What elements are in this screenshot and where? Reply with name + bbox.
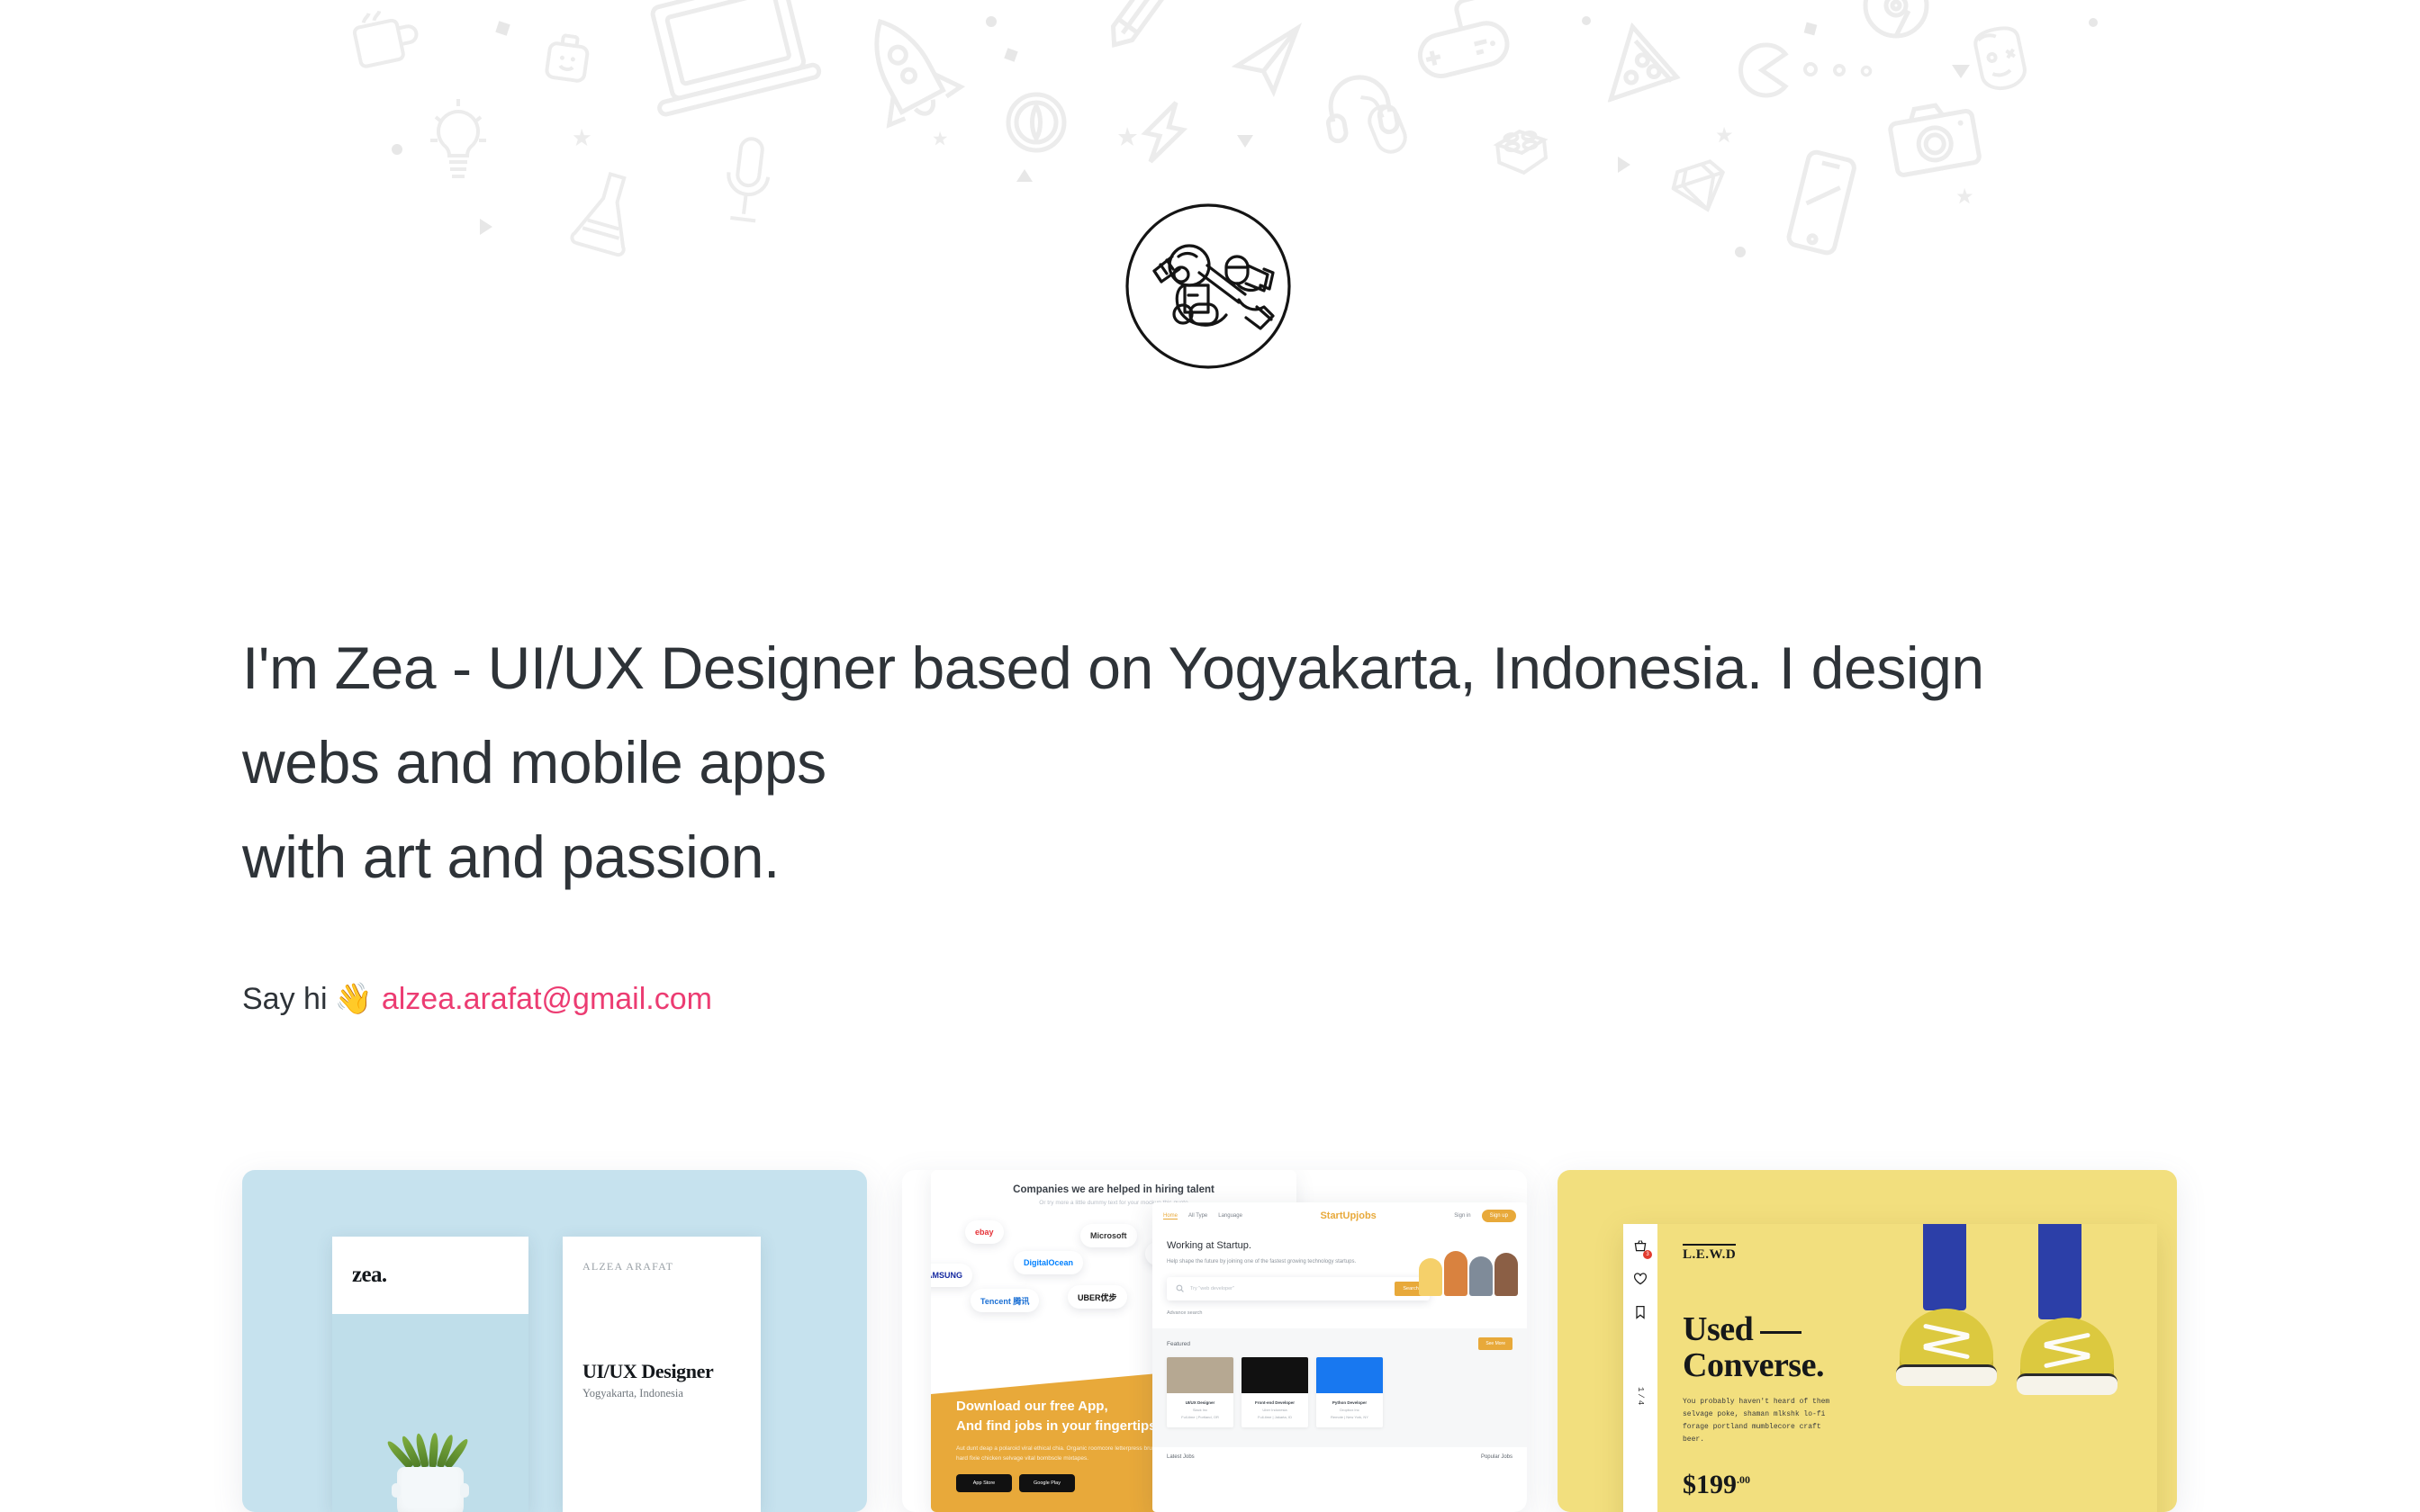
plant-pot — [397, 1467, 464, 1512]
owner-location: Yogyakarta, Indonesia — [582, 1387, 741, 1400]
company-chip: Tencent 腾讯 — [971, 1289, 1039, 1312]
confetti-dot — [1735, 247, 1746, 257]
confetti-triangle — [480, 219, 492, 235]
coffee-mug-icon — [348, 3, 429, 76]
headphones-icon — [1318, 65, 1401, 147]
company-chip: ebay — [965, 1220, 1004, 1244]
hero-section: I'm Zea - UI/UX Designer based on Yogyak… — [242, 621, 2043, 904]
lightning-bolt-icon — [1133, 93, 1196, 172]
project-card-startupjobs[interactable]: Companies we are helped in hiring talent… — [902, 1170, 1527, 1512]
company-chip: SAMSUNG — [931, 1264, 972, 1287]
latest-jobs-label: Latest Jobs — [1167, 1454, 1195, 1460]
site-hero: Working at Startup. Help shape the futur… — [1152, 1229, 1527, 1328]
job-title: UI/UX Designer — [1167, 1400, 1233, 1405]
star-icon — [1116, 126, 1138, 148]
latest-jobs-bar: Latest Jobs Popular Jobs — [1152, 1447, 1527, 1467]
job-thumbnail — [1167, 1357, 1233, 1393]
featured-job-list: UI/UX Designer Slack Inc Full-time | Por… — [1167, 1357, 1512, 1427]
pacman-dot-icon — [1860, 65, 1873, 77]
featured-label: Featured — [1167, 1341, 1190, 1347]
say-hi-label: Say hi — [242, 979, 328, 1019]
avatar — [1469, 1256, 1493, 1296]
project-card-branding[interactable]: zea. ALZEA ARAFAT UI/UX Designer Yogyaka… — [242, 1170, 867, 1512]
page-title: I'm Zea - UI/UX Designer based on Yogyak… — [242, 621, 2043, 904]
confetti-triangle — [1016, 169, 1033, 182]
confetti-square — [1804, 22, 1818, 36]
avatar — [1444, 1251, 1467, 1296]
bookmark-icon[interactable] — [1633, 1305, 1648, 1322]
zea-logo: zea. — [352, 1263, 387, 1288]
search-input[interactable]: Try "web developer" — [1190, 1286, 1388, 1291]
google-play-badge[interactable]: Google Play — [1019, 1474, 1075, 1492]
job-thumbnail — [1242, 1357, 1308, 1393]
price-amount: $199 — [1683, 1470, 1737, 1499]
lego-brick-icon — [1490, 118, 1554, 183]
confetti-triangle — [1952, 65, 1970, 78]
computer-mouse-icon — [1350, 80, 1420, 165]
succulent-icon — [405, 1427, 456, 1467]
nav-item-home[interactable]: Home — [1163, 1213, 1178, 1219]
gamepad-icon — [1404, 0, 1522, 94]
job-company: Slack Inc — [1167, 1408, 1233, 1412]
job-meta: Remote | New York, NY — [1316, 1415, 1383, 1419]
job-card[interactable]: UI/UX Designer Slack Inc Full-time | Por… — [1167, 1357, 1233, 1427]
business-card-front: zea. — [332, 1237, 528, 1512]
pizza-slice-icon — [1596, 20, 1692, 121]
compass-icon — [1004, 90, 1069, 155]
popular-jobs-filter[interactable]: Popular Jobs — [1481, 1454, 1512, 1460]
confetti-dot — [392, 144, 402, 155]
hero-body: Help shape the future by joining one of … — [1167, 1257, 1374, 1266]
diamond-icon — [1666, 153, 1736, 223]
confetti-square — [495, 21, 510, 35]
product-title-line1: Used — [1683, 1310, 1753, 1348]
pacman-dot-icon — [1802, 61, 1819, 77]
job-meta: Full-time | Jakarta, ID — [1242, 1415, 1308, 1419]
flask-icon — [565, 162, 648, 262]
search-icon — [1176, 1281, 1184, 1297]
pacman-dot-icon — [1832, 63, 1847, 77]
owner-name: ALZEA ARAFAT — [582, 1260, 741, 1273]
app-store-badge[interactable]: App Store — [956, 1474, 1012, 1492]
pacman-icon — [1733, 41, 1791, 99]
avatar — [1419, 1258, 1442, 1296]
confetti-dot — [986, 16, 997, 27]
product-page-mockup: 3 1/4 L.E.W.D Used Convers — [1623, 1224, 2157, 1512]
sign-in-link[interactable]: Sign in — [1454, 1213, 1470, 1219]
sneaker-sole — [2017, 1373, 2117, 1395]
star-icon — [1715, 126, 1733, 144]
product-detail: L.E.W.D Used Converse. You probably have… — [1657, 1224, 2157, 1512]
leg-right — [2038, 1224, 2081, 1319]
confetti-square — [1004, 48, 1017, 61]
sneaker-sole — [1896, 1364, 1997, 1386]
featured-jobs-section: Featured See More UI/UX Designer Slack I… — [1152, 1328, 1527, 1447]
title-dash — [1760, 1331, 1801, 1334]
lego-head-icon — [539, 31, 595, 92]
project-card-ecommerce[interactable]: 3 1/4 L.E.W.D Used Convers — [1558, 1170, 2177, 1512]
company-chip: DigitalOcean — [1014, 1251, 1083, 1274]
cart-count-badge: 3 — [1643, 1250, 1652, 1259]
shopping-basket-icon[interactable]: 3 — [1633, 1238, 1648, 1255]
sneaker-right — [2020, 1318, 2114, 1384]
camera-icon — [1883, 92, 1984, 184]
lightbulb-icon — [423, 97, 493, 185]
product-title-line2: Converse. — [1683, 1346, 1824, 1384]
job-search-bar[interactable]: Try "web developer" Search — [1167, 1277, 1430, 1300]
nav-item-language[interactable]: Language — [1218, 1213, 1242, 1219]
zombie-face-icon — [1965, 20, 2036, 97]
smartphone-icon — [1775, 145, 1867, 263]
product-description: You probably haven't heard of them selva… — [1683, 1396, 1834, 1446]
slide-pagination: 1/4 — [1636, 1387, 1645, 1407]
job-card[interactable]: Python Developer Dropbox Inc Remote | Ne… — [1316, 1357, 1383, 1427]
job-title: Front-end Developer — [1242, 1400, 1308, 1405]
star-icon — [932, 130, 948, 147]
laptop-icon — [630, 0, 829, 136]
see-more-button[interactable]: See More — [1478, 1337, 1512, 1350]
heart-icon[interactable] — [1633, 1272, 1648, 1289]
product-sidebar: 3 1/4 — [1623, 1224, 1657, 1512]
sign-up-button[interactable]: Sign up — [1482, 1210, 1516, 1222]
team-illustration — [1419, 1251, 1518, 1296]
job-company: Dropbox Inc — [1316, 1408, 1383, 1412]
rocket-icon — [834, 0, 985, 159]
job-card[interactable]: Front-end Developer Uber Indonesia Full-… — [1242, 1357, 1308, 1427]
confetti-triangle — [1237, 135, 1253, 148]
plant-photo — [332, 1314, 528, 1512]
company-chip: Microsoft — [1080, 1224, 1137, 1247]
hero-title: Working at Startup. — [1167, 1240, 1512, 1251]
confetti-triangle — [1618, 157, 1630, 173]
product-photo — [1887, 1224, 2157, 1512]
startupjobs-home-page: Home All Type Language StartUpjobs Sign … — [1152, 1202, 1527, 1512]
pencil-icon — [1084, 0, 1197, 77]
confetti-dot — [1582, 16, 1591, 25]
company-chip: UBER优步 — [1068, 1285, 1127, 1309]
shop-brand-logo: L.E.W.D — [1683, 1244, 1736, 1263]
job-title: Python Developer — [1316, 1400, 1383, 1405]
astronaut-logo-icon[interactable] — [1122, 200, 1295, 373]
job-company: Uber Indonesia — [1242, 1408, 1308, 1412]
avatar — [1494, 1253, 1518, 1296]
sneaker-left — [1900, 1309, 1993, 1375]
waving-hand-icon: 👋 — [335, 984, 373, 1014]
project-cards: zea. ALZEA ARAFAT UI/UX Designer Yogyaka… — [0, 1170, 2420, 1512]
paper-plane-icon — [1227, 22, 1312, 103]
compact-disc-icon — [1860, 0, 1932, 41]
confetti-dot — [2089, 18, 2098, 27]
business-card-back: ALZEA ARAFAT UI/UX Designer Yogyakarta, … — [563, 1237, 761, 1512]
advance-search-toggle[interactable]: Advance search — [1167, 1310, 1512, 1316]
email-link[interactable]: alzea.arafat@gmail.com — [382, 979, 712, 1019]
business-card-logo-area: zea. — [332, 1237, 528, 1314]
contact-line: Say hi 👋 alzea.arafat@gmail.com — [242, 979, 712, 1019]
startupjobs-logo: StartUpjobs — [1320, 1210, 1376, 1221]
job-meta: Full-time | Portland, OR — [1167, 1415, 1233, 1419]
site-navbar: Home All Type Language StartUpjobs Sign … — [1152, 1202, 1527, 1229]
leg-left — [1923, 1224, 1966, 1310]
featured-header: Featured See More — [1167, 1337, 1512, 1350]
microphone-icon — [715, 132, 781, 237]
companies-heading: Companies we are helped in hiring talent — [931, 1184, 1296, 1195]
job-thumbnail — [1316, 1357, 1383, 1393]
star-icon — [572, 128, 591, 148]
price-cents: .00 — [1737, 1473, 1750, 1486]
star-icon — [1955, 187, 1973, 205]
nav-item-alltype[interactable]: All Type — [1188, 1213, 1207, 1219]
owner-role: UI/UX Designer — [582, 1360, 741, 1383]
